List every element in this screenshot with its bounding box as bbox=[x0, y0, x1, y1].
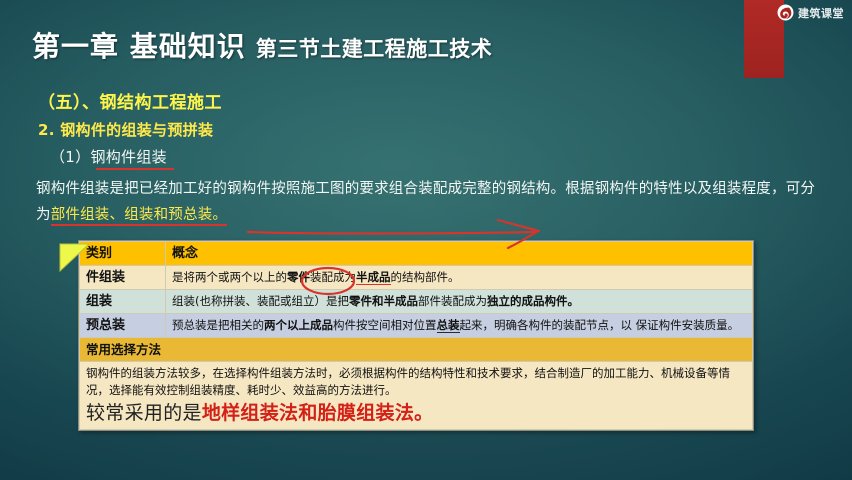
table-header-category: 类别 bbox=[80, 242, 166, 266]
concept-part-bold: 零件和半成品 bbox=[349, 294, 418, 308]
yellow-triangle-marker-icon bbox=[58, 242, 92, 272]
slide-title: 第一章 基础知识 第三节土建工程施工技术 bbox=[32, 25, 492, 65]
table-subheader-label: 常用选择方法 bbox=[80, 338, 753, 362]
concept-part: 起来，明确各构件的装配节点，以 保证构件安装质量。 bbox=[460, 318, 740, 332]
row-concept: 预总装是把相关的两个以上成品构件按空间相对位置总装起来，明确各构件的装配节点，以… bbox=[166, 314, 753, 338]
row-concept: 组装(也称拼装、装配或组立）是把零件和半成品部件装配成为独立的成品构件。 bbox=[166, 290, 753, 314]
concept-table: 类别 概念 件组装 是将两个或两个以上的零件装配成为半成品的结构部件。 组装 组… bbox=[78, 240, 754, 431]
concept-part-bold: 零件 bbox=[287, 270, 310, 284]
final-line-prefix: 较常采用的是 bbox=[86, 402, 202, 424]
method-paragraph: 钢构件的组装方法较多，在选择构件组装方法时，必须根据构件的结构特性和技术要求，结… bbox=[86, 365, 746, 399]
intro-paragraph: 钢构件组装是把已经加工好的钢构件按照施工图的要求组合装配成完整的钢结构。根据钢构… bbox=[36, 176, 826, 228]
concept-part: 组装(也称拼装、装配或组立）是把 bbox=[172, 294, 349, 308]
table-header-row: 类别 概念 bbox=[80, 242, 753, 266]
concept-part-bold: 独立的成品构件。 bbox=[487, 294, 579, 308]
row-category: 组装 bbox=[80, 290, 166, 314]
concept-part: 构件按空间相对位置 bbox=[333, 318, 437, 332]
brand-logo: 建筑课堂 bbox=[777, 4, 844, 21]
concept-part: 的结构部件。 bbox=[391, 270, 460, 284]
table-subheader-row: 常用选择方法 bbox=[80, 338, 753, 362]
concept-part-bold-underline: 总装 bbox=[437, 318, 460, 333]
concept-part: 部件装配成为 bbox=[418, 294, 487, 308]
row-category: 预总装 bbox=[80, 314, 166, 338]
title-sub-text: 第三节土建工程施工技术 bbox=[256, 33, 493, 63]
final-line-red-text: 地样组装法和胎膜组装法。 bbox=[202, 402, 434, 424]
heading-level-3: （1）钢构件组装 bbox=[50, 146, 167, 167]
table-method-cell: 钢构件的组装方法较多，在选择构件组装方法时，必须根据构件的结构特性和技术要求，结… bbox=[80, 362, 753, 430]
row-category: 件组装 bbox=[80, 266, 166, 290]
concept-part-bold: 两个以上成品 bbox=[264, 318, 333, 332]
table-row: 预总装 预总装是把相关的两个以上成品构件按空间相对位置总装起来，明确各构件的装配… bbox=[80, 314, 753, 338]
table-row: 件组装 是将两个或两个以上的零件装配成为半成品的结构部件。 bbox=[80, 266, 753, 290]
title-main-text: 第一章 基础知识 bbox=[32, 25, 246, 65]
concept-part-bold-underline: 半成品 bbox=[356, 270, 391, 284]
table-method-row: 钢构件的组装方法较多，在选择构件组装方法时，必须根据构件的结构特性和技术要求，结… bbox=[80, 362, 753, 430]
swirl-logo-icon bbox=[777, 4, 794, 21]
heading-level-2: 2. 钢构件的组装与预拼装 bbox=[38, 119, 213, 140]
concept-part: 是将两个或两个以上的 bbox=[172, 270, 287, 284]
intro-paragraph-highlight: 部件组装、组装和预总装。 bbox=[51, 207, 227, 223]
brand-name: 建筑课堂 bbox=[798, 5, 844, 21]
slide-canvas: 建筑课堂 第一章 基础知识 第三节土建工程施工技术 （五）、钢结构工程施工 2.… bbox=[0, 0, 852, 480]
table-header-concept: 概念 bbox=[166, 242, 753, 266]
heading-level-3-red-underline bbox=[96, 168, 174, 170]
row-concept: 是将两个或两个以上的零件装配成为半成品的结构部件。 bbox=[166, 266, 753, 290]
table-row: 组装 组装(也称拼装、装配或组立）是把零件和半成品部件装配成为独立的成品构件。 bbox=[80, 290, 753, 314]
concept-part: 预总装是把相关的 bbox=[172, 318, 264, 332]
concept-part: 装配成为 bbox=[310, 270, 356, 284]
heading-level-1: （五）、钢结构工程施工 bbox=[38, 88, 222, 113]
final-emphasis-line: 较常采用的是地样组装法和胎膜组装法。 bbox=[86, 399, 746, 426]
